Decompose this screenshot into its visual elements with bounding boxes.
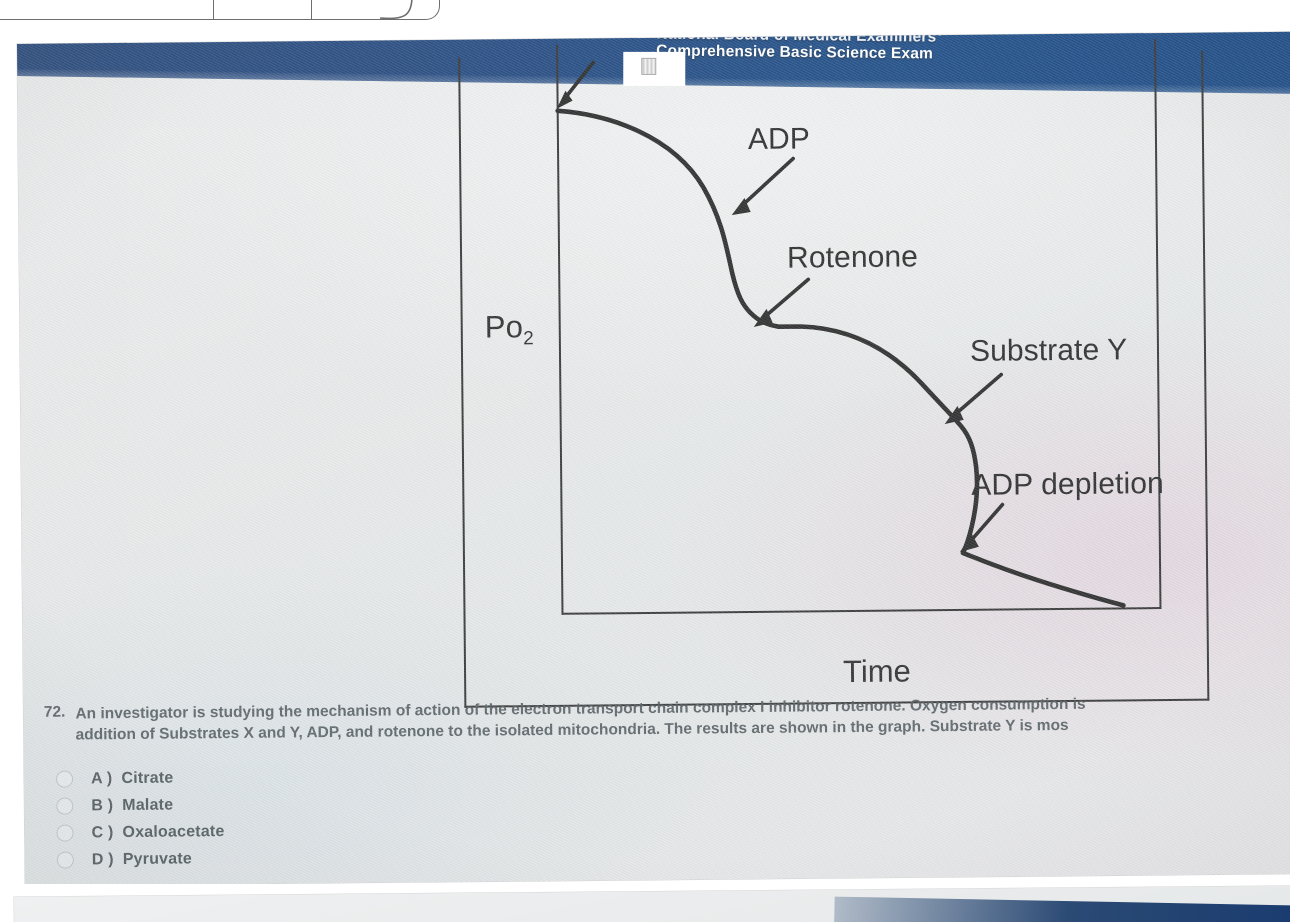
annotation-label-adp: ADP xyxy=(748,122,810,157)
broken-image-glyph xyxy=(641,58,656,75)
answer-option-a-letter: A ) xyxy=(91,770,113,788)
annotation-label-rotenone: Rotenone xyxy=(787,240,918,275)
y-axis-label-subscript: 2 xyxy=(523,328,534,349)
annotation-label-substrate-y: Substrate Y xyxy=(970,333,1128,369)
graph-axes-box xyxy=(556,39,1161,615)
x-axis-label: Time xyxy=(843,653,911,690)
y-axis-label-text: Po xyxy=(485,309,524,344)
curved-arrow-icon xyxy=(378,0,418,22)
question-block: 72. An investigator is studying the mech… xyxy=(31,691,1290,746)
question-number: 72. xyxy=(31,703,75,746)
structure-bond-tick xyxy=(213,0,214,20)
answer-option-c-text: Oxaloacetate xyxy=(122,823,224,842)
radio-button-b[interactable] xyxy=(56,797,73,814)
answer-option-b-text: Malate xyxy=(122,796,173,814)
broken-image-icon xyxy=(623,52,685,86)
answer-options-list[interactable]: A ) Citrate B ) Malate C ) Oxaloacetate … xyxy=(32,761,553,874)
answer-option-c-letter: C ) xyxy=(91,824,113,842)
exam-question-photo-card: National Board of Medical Examiners® Com… xyxy=(17,32,1290,886)
chemical-structure-box xyxy=(0,0,440,20)
answer-option-a-text: Citrate xyxy=(121,769,173,787)
answer-option-d-text: Pyruvate xyxy=(123,850,192,869)
annotation-label-adp-depletion: ADP depletion xyxy=(971,467,1164,503)
radio-button-d[interactable] xyxy=(57,851,74,868)
radio-button-a[interactable] xyxy=(56,770,73,787)
answer-option-d-letter: D ) xyxy=(92,851,114,869)
question-stem: An investigator is studying the mechanis… xyxy=(75,694,1086,746)
radio-button-c[interactable] xyxy=(56,824,73,841)
answer-option-d[interactable]: D ) Pyruvate xyxy=(33,842,553,874)
figure-outer-frame xyxy=(458,51,1209,708)
structure-bond-tick xyxy=(311,0,312,20)
y-axis-label: Po2 xyxy=(485,309,535,351)
answer-option-b-letter: B ) xyxy=(91,797,113,815)
screenshot-root: H CO H H National Board of Medical Exami… xyxy=(0,0,1290,922)
